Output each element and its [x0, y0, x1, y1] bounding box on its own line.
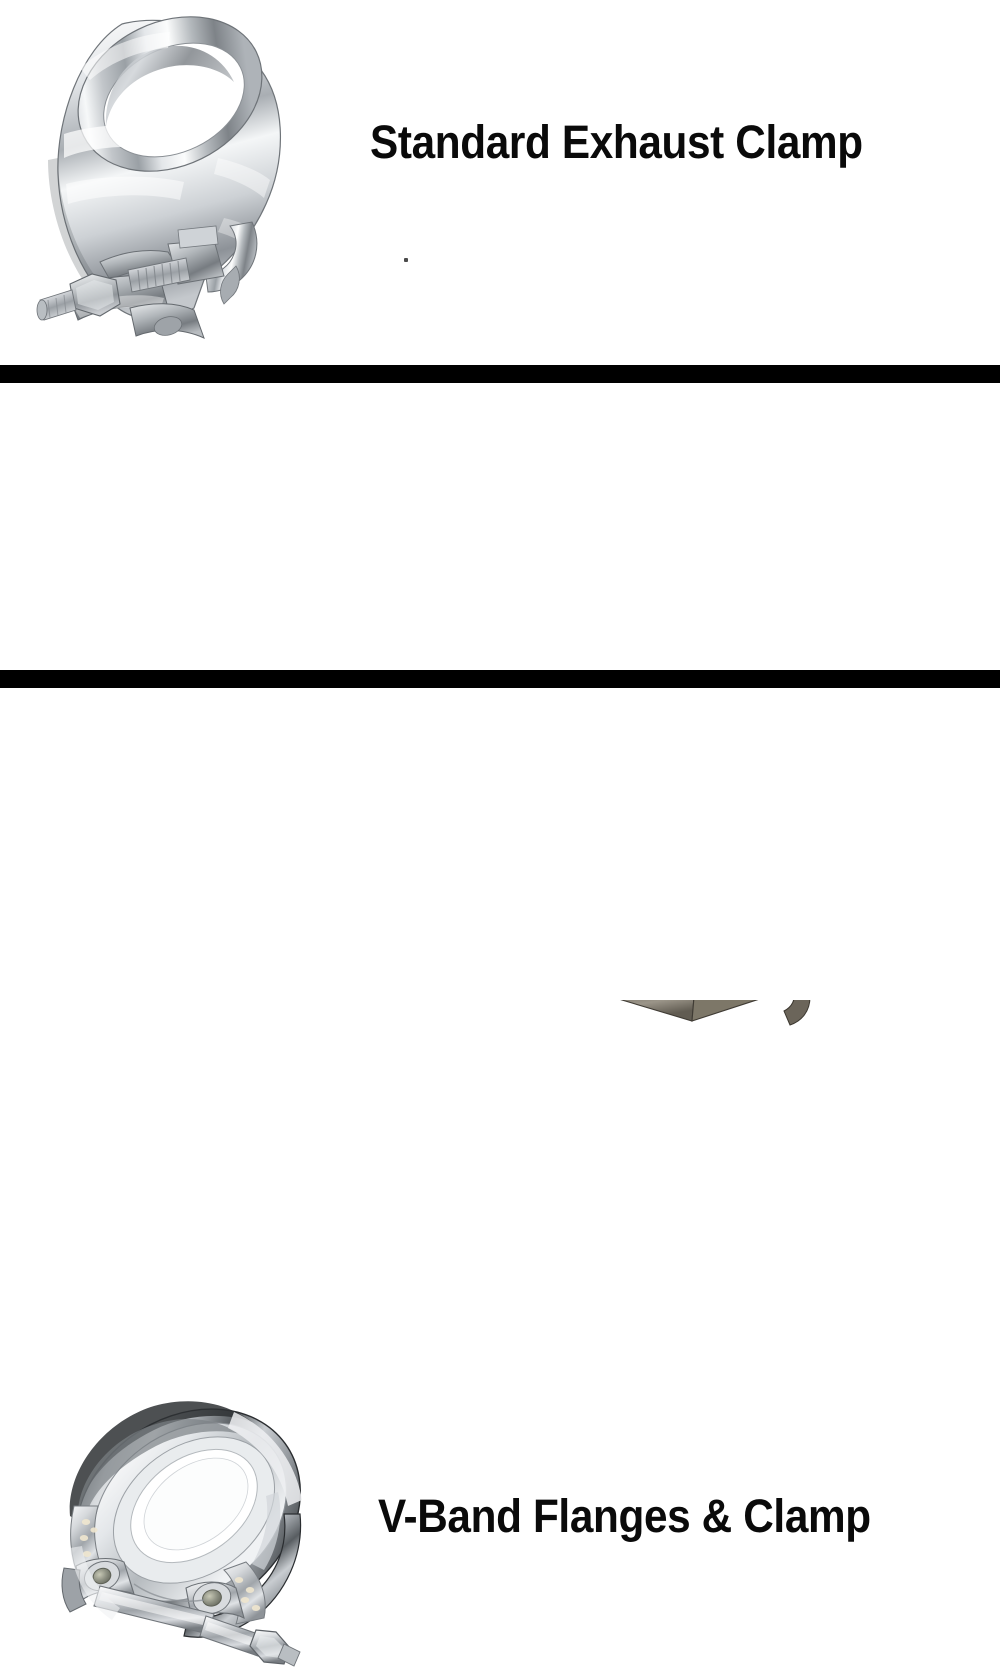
speck-artifact	[404, 258, 408, 262]
panel-v-band-flanges-and-clamp: V-Band Flanges & Clamp	[0, 688, 1000, 1000]
standard-exhaust-clamp-photo	[18, 8, 318, 360]
panel-title-standard-exhaust-clamp: Standard Exhaust Clamp	[370, 113, 910, 170]
infographic-page: Standard Exhaust Clamp Lap Joint Exhaust…	[0, 0, 1000, 1000]
panel-title-v-band-flanges-and-clamp: V-Band Flanges & Clamp	[378, 1487, 918, 1544]
v-band-flanges-clamp-photo	[38, 1386, 338, 1674]
panel-standard-exhaust-clamp: Standard Exhaust Clamp	[0, 0, 1000, 365]
divider-1	[0, 365, 1000, 383]
divider-2	[0, 670, 1000, 688]
panel-lap-joint-exhaust-band-clamp: Lap Joint Exhaust Band Clamp	[0, 383, 1000, 670]
